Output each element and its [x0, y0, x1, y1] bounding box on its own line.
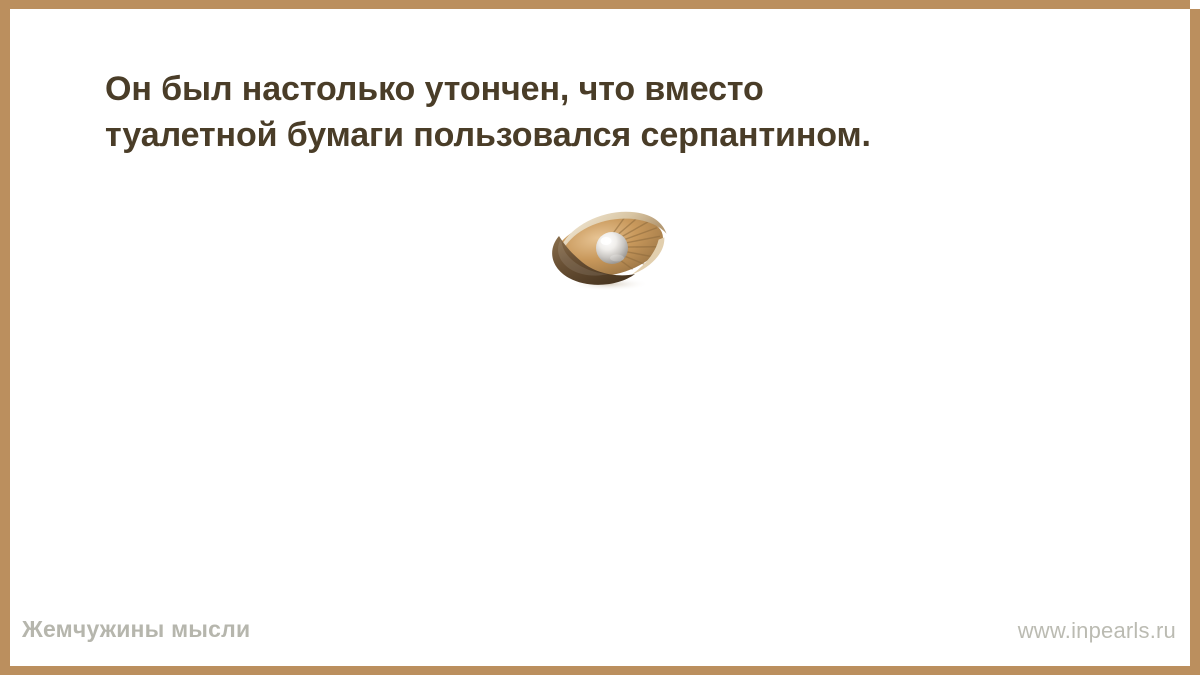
seashell-icon [537, 206, 677, 296]
card-canvas: Он был настолько утончен, что вместо туа… [10, 9, 1190, 666]
footer-site-url[interactable]: www.inpearls.ru [1018, 618, 1176, 644]
quote-text: Он был настолько утончен, что вместо туа… [105, 66, 1115, 158]
seashell-with-pearl-illustration [537, 206, 677, 296]
footer-brand: Жемчужины мысли [22, 616, 250, 643]
quote-card: Он был настолько утончен, что вместо туа… [0, 0, 1200, 675]
frame-corner-gap [1190, 0, 1200, 9]
